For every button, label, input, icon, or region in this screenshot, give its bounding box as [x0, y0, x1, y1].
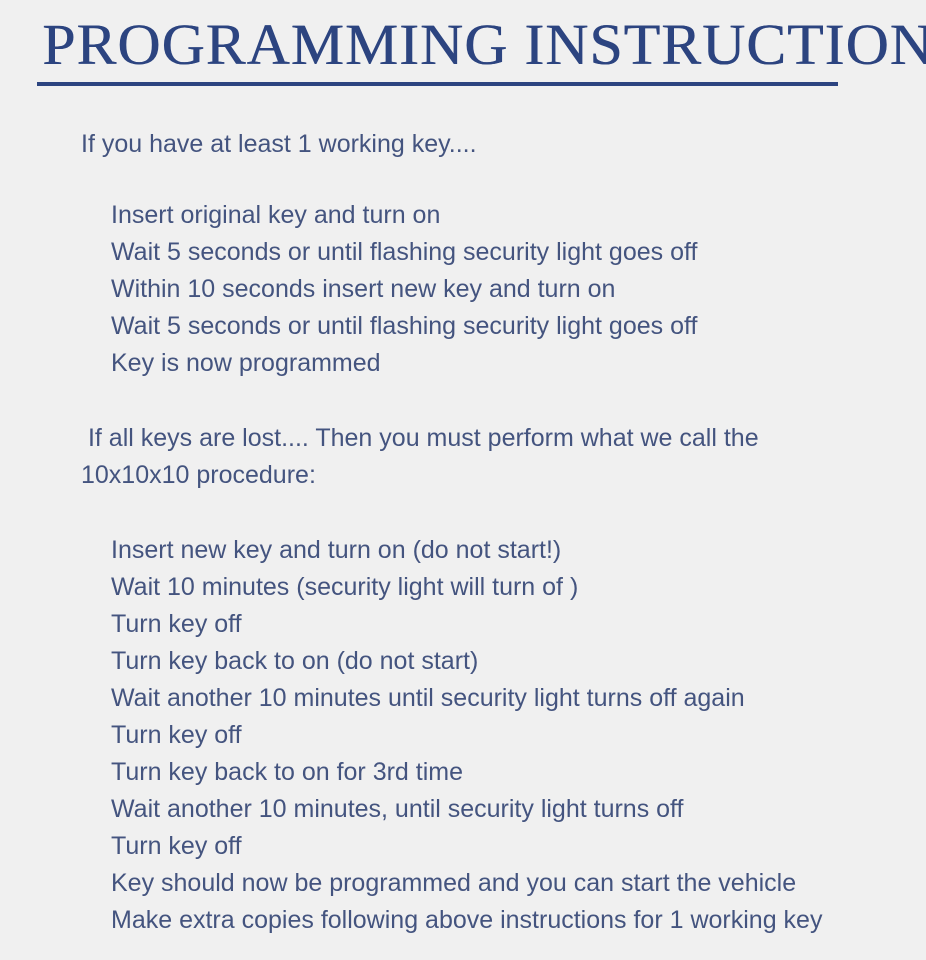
list-item: Wait 5 seconds or until flashing securit…: [111, 234, 926, 271]
list-item: Wait 5 seconds or until flashing securit…: [111, 308, 926, 345]
section-one-step-list: Insert original key and turn on Wait 5 s…: [0, 197, 926, 382]
list-item: Wait another 10 minutes until security l…: [111, 680, 926, 717]
section-two-step-list: Insert new key and turn on (do not start…: [0, 532, 926, 939]
list-item: Within 10 seconds insert new key and tur…: [111, 271, 926, 308]
instructions-page: PROGRAMMING INSTRUCTIONS: If you have at…: [0, 0, 926, 960]
page-title: PROGRAMMING INSTRUCTIONS:: [37, 14, 862, 76]
spacer-three: [0, 494, 926, 532]
title-block: PROGRAMMING INSTRUCTIONS:: [37, 14, 838, 76]
list-item: Turn key off: [111, 717, 926, 754]
spacer-one: [0, 163, 926, 197]
list-item: Turn key back to on for 3rd time: [111, 754, 926, 791]
list-item: Wait 10 minutes (security light will tur…: [111, 569, 926, 606]
list-item: Wait another 10 minutes, until security …: [111, 791, 926, 828]
list-item: Key should now be programmed and you can…: [111, 865, 926, 902]
list-item: Turn key off: [111, 828, 926, 865]
list-item: Turn key back to on (do not start): [111, 643, 926, 680]
list-item: Turn key off: [111, 606, 926, 643]
list-item: Insert original key and turn on: [111, 197, 926, 234]
spacer-two: [0, 382, 926, 420]
section-two-paragraph: If all keys are lost.... Then you must p…: [0, 420, 926, 494]
title-underline-rule: [37, 82, 838, 86]
section-one-lead: If you have at least 1 working key....: [0, 126, 926, 163]
instructions-body: If you have at least 1 working key.... I…: [0, 126, 926, 939]
list-item: Insert new key and turn on (do not start…: [111, 532, 926, 569]
list-item: Key is now programmed: [111, 345, 926, 382]
list-item: Make extra copies following above instru…: [111, 902, 926, 939]
